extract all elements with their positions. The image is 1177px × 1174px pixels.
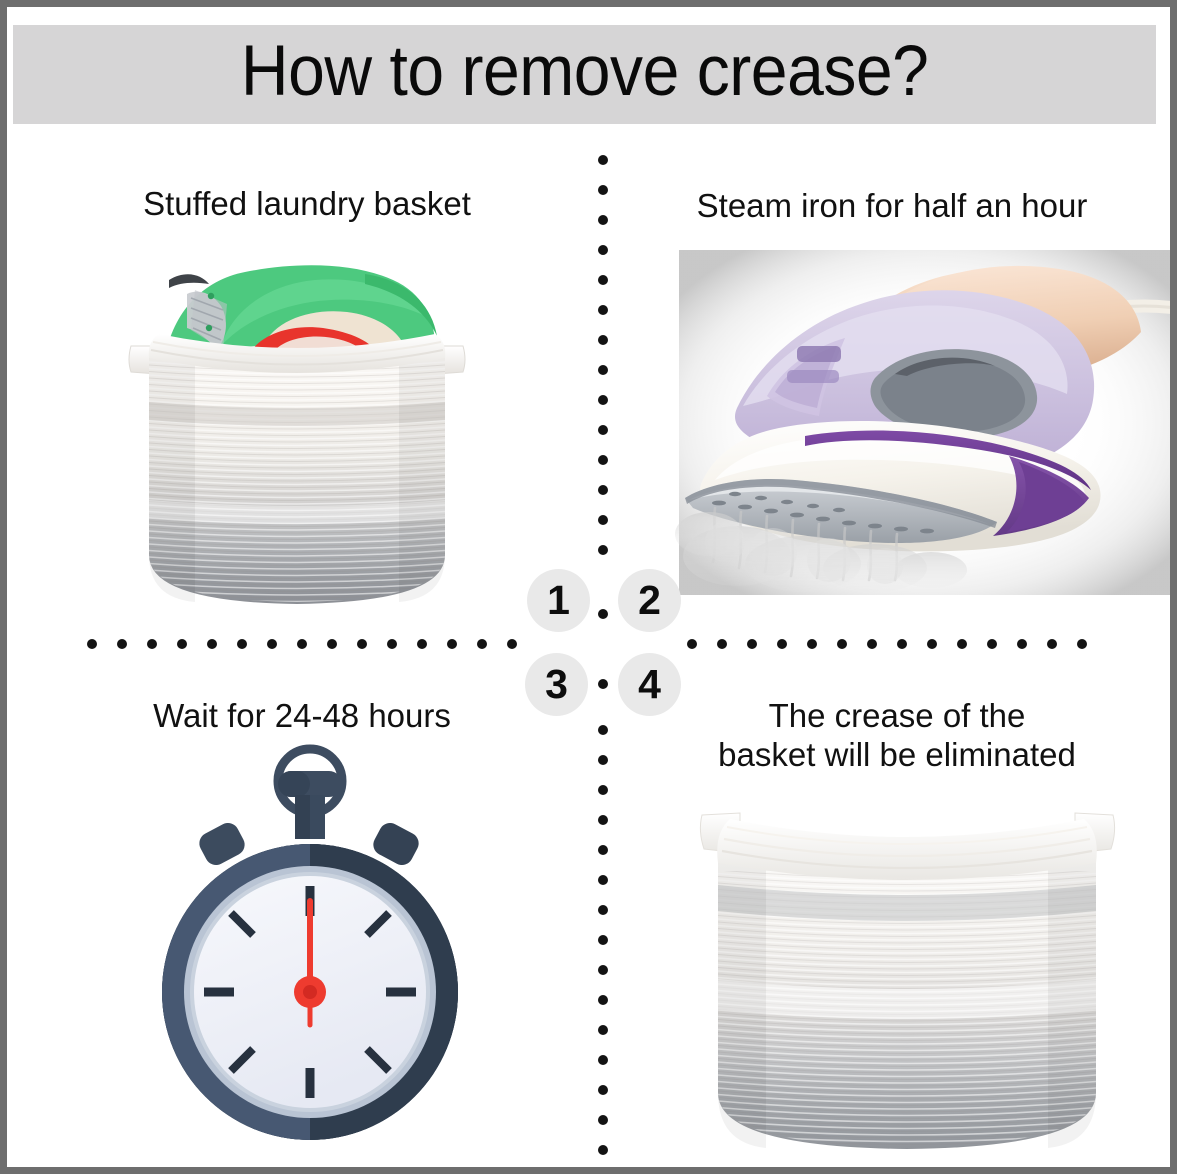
divider-dot [177,639,187,649]
divider-dot [598,335,608,345]
divider-dot [1077,639,1087,649]
divider-dot [598,785,608,795]
divider-dot [837,639,847,649]
divider-dot [598,545,608,555]
divider-dot [117,639,127,649]
divider-dot [417,639,427,649]
step-number: 3 [545,664,568,705]
divider-dot [598,755,608,765]
divider-dot [598,305,608,315]
divider-dot [598,1145,608,1155]
step-number: 1 [547,580,570,621]
divider-dot [357,639,367,649]
divider-dot [598,395,608,405]
divider-dot [957,639,967,649]
divider-dot [207,639,217,649]
divider-dot [267,639,277,649]
illustration-stopwatch [135,749,485,1141]
divider-dot [598,485,608,495]
divider-dot [598,425,608,435]
divider-dot [87,639,97,649]
step-2-caption: Steam iron for half an hour [637,187,1147,226]
divider-dot [598,1055,608,1065]
illustration-laundry-basket-empty [700,793,1115,1161]
divider-dot [598,1085,608,1095]
divider-dot [1017,639,1027,649]
divider-dot [747,639,757,649]
basket-rim [717,819,1097,880]
divider-dot [507,639,517,649]
divider-dot [807,639,817,649]
divider-dot [598,875,608,885]
divider-dot [1047,639,1057,649]
divider-dot [598,1025,608,1035]
stopwatch-crown [278,749,342,839]
divider-dot [598,185,608,195]
basket-body [718,863,1096,1155]
divider-dot [598,455,608,465]
page-title: How to remove crease? [241,36,929,113]
step-3-caption: Wait for 24-48 hours [37,697,567,736]
divider-dot [717,639,727,649]
divider-dot [927,639,937,649]
step-badge-1: 1 [527,569,590,632]
step-4-caption-line-2: basket will be eliminated [647,736,1147,775]
divider-dot [867,639,877,649]
divider-dot [447,639,457,649]
divider-dot [777,639,787,649]
infographic-page: How to remove crease? 1 2 3 4 Stuffed la… [0,0,1177,1174]
divider-dot [598,845,608,855]
step-badge-4: 4 [618,653,681,716]
divider-dot [598,365,608,375]
step-badge-2: 2 [618,569,681,632]
divider-dot [598,1115,608,1125]
divider-dot [147,639,157,649]
divider-dot [598,905,608,915]
divider-dot [598,815,608,825]
divider-dot [598,515,608,525]
divider-dot [598,245,608,255]
step-4-caption-line-1: The crease of the [647,697,1147,736]
divider-dot [598,275,608,285]
basket-body [149,358,445,605]
divider-dot [598,935,608,945]
divider-dot [598,215,608,225]
illustration-steam-iron [679,250,1177,595]
step-badge-3: 3 [525,653,588,716]
divider-dot [687,639,697,649]
divider-dot [297,639,307,649]
divider-dot [987,639,997,649]
step-number: 4 [638,664,661,705]
divider-dot [237,639,247,649]
divider-dot [897,639,907,649]
divider-dot [387,639,397,649]
illustration-laundry-basket-full [125,250,470,630]
divider-dot [477,639,487,649]
divider-dot [598,679,608,689]
divider-dot [598,609,608,619]
divider-dot [598,155,608,165]
divider-dot [327,639,337,649]
step-1-caption: Stuffed laundry basket [42,185,572,224]
step-number: 2 [638,580,661,621]
step-4-caption: The crease of the basket will be elimina… [647,697,1147,775]
title-banner: How to remove crease? [13,25,1156,124]
divider-dot [598,965,608,975]
divider-dot [598,995,608,1005]
divider-dot [598,725,608,735]
